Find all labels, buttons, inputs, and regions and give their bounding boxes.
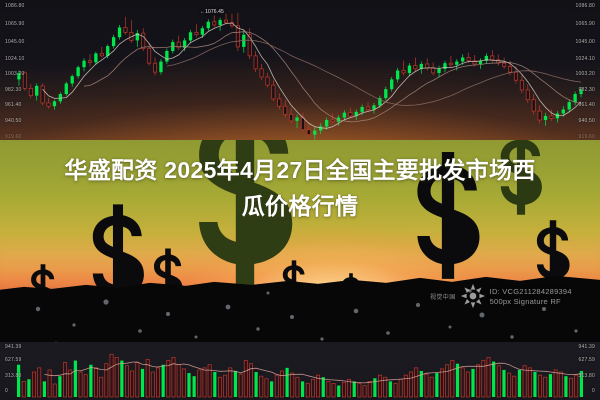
asterisk-burst-icon (460, 283, 486, 309)
title-line-2: 瓜价格行情 (14, 188, 586, 224)
price-candlestick-chart: 1086.80 1065.90 1045.00 1024.10 1003.20 … (0, 0, 600, 152)
volume-chart-plot-area (0, 342, 600, 400)
watermark-id: ID: VCG211284289394 (490, 287, 572, 296)
title-line-1: 华盛配资 2025年4月27日全国主要批发市场西 (14, 152, 586, 188)
watermark-text-block: ID: VCG211284289394 500px Signature RF (490, 287, 572, 306)
screenshot-root: 1086.80 1065.90 1045.00 1024.10 1003.20 … (0, 0, 600, 400)
vcg-watermark: 视觉中国 ID: VCG211284289394 500px Signature… (430, 279, 596, 313)
vcg-logo-text: 视觉中国 (430, 292, 456, 301)
page-title: 华盛配资 2025年4月27日全国主要批发市场西 瓜价格行情 (0, 152, 600, 224)
price-chart-svg (0, 0, 600, 152)
peak-price-annotation: ←1076.45 (200, 9, 224, 15)
price-chart-plot-area (0, 0, 600, 152)
volume-bar-chart: 941.39 627.59 313.80 0 941.39 627.59 313… (0, 342, 600, 400)
watermark-license: 500px Signature RF (490, 297, 572, 306)
volume-chart-svg (0, 342, 600, 400)
